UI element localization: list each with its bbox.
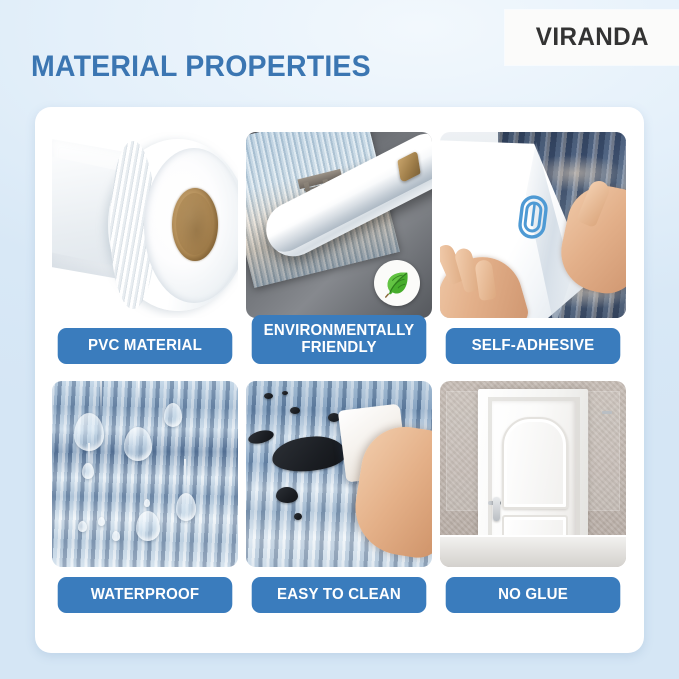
- easy-to-clean-image: [246, 381, 432, 567]
- no-glue-image: [440, 381, 626, 567]
- pvc-roll-image: [52, 132, 238, 318]
- card-caption-line2: FRIENDLY: [256, 339, 423, 356]
- card-caption-self-adhesive: SELF-ADHESIVE: [446, 328, 621, 364]
- feature-grid: PVC MATERIAL: [52, 132, 627, 613]
- infographic-page: VIRANDA MATERIAL PROPERTIES: [0, 0, 679, 679]
- brand-logo: VIRANDA: [505, 10, 679, 65]
- card-caption-waterproof: WATERPROOF: [58, 577, 233, 613]
- self-adhesive-image: [440, 132, 626, 318]
- eco-leaf-badge: [374, 260, 420, 306]
- card-caption-easy-to-clean: EASY TO CLEAN: [252, 577, 427, 613]
- card-caption-no-glue: NO GLUE: [446, 577, 621, 613]
- feature-card-pvc-material[interactable]: PVC MATERIAL: [52, 132, 238, 364]
- brand-logo-text: VIRANDA: [535, 23, 648, 52]
- feature-panel: PVC MATERIAL: [35, 107, 644, 653]
- leaf-icon: [382, 268, 412, 298]
- feature-card-easy-to-clean[interactable]: EASY TO CLEAN: [246, 381, 432, 613]
- paperclip-icon: [515, 192, 550, 241]
- page-title: MATERIAL PROPERTIES: [31, 50, 371, 84]
- feature-card-waterproof[interactable]: WATERPROOF: [52, 381, 238, 613]
- eco-roll-image: [246, 132, 432, 318]
- feature-card-self-adhesive[interactable]: SELF-ADHESIVE: [440, 132, 626, 364]
- card-caption-line1: ENVIRONMENTALLY: [256, 322, 423, 339]
- waterproof-image: [52, 381, 238, 567]
- card-caption-environmentally-friendly: ENVIRONMENTALLY FRIENDLY: [252, 315, 427, 364]
- feature-card-no-glue[interactable]: NO GLUE: [440, 381, 626, 613]
- feature-card-environmentally-friendly[interactable]: ENVIRONMENTALLY FRIENDLY: [246, 132, 432, 364]
- card-caption-pvc-material: PVC MATERIAL: [58, 328, 233, 364]
